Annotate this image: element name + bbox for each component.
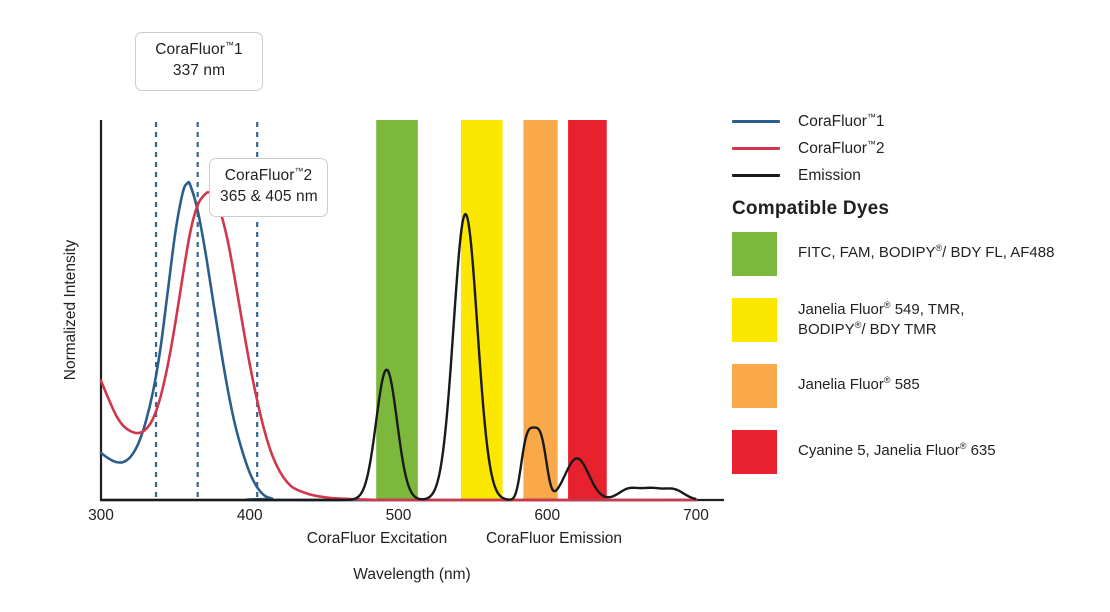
registered-symbol: ® xyxy=(960,441,967,451)
dye-label-line: Janelia Fluor® 549, TMR, xyxy=(798,300,964,320)
legend-line-swatch xyxy=(732,147,780,150)
dye-label: Cyanine 5, Janelia Fluor® 635 xyxy=(798,430,996,461)
registered-symbol: ® xyxy=(936,243,943,253)
registered-symbol: ® xyxy=(884,300,891,310)
corafluor2-callout-line1: CoraFluor™2 xyxy=(220,166,317,187)
registered-symbol: ® xyxy=(884,375,891,385)
corafluor1-callout-line2: 337 nm xyxy=(146,61,252,82)
dye-label-line: BODIPY®/ BDY TMR xyxy=(798,320,964,340)
dye-color-swatch xyxy=(732,430,777,474)
legend-item-1[interactable]: CoraFluor™2 xyxy=(728,135,1110,162)
y-axis-title: Normalized Intensity xyxy=(62,240,80,380)
corafluor2-callout-line2: 365 & 405 nm xyxy=(220,187,317,208)
excitation-region-label: CoraFluor Excitation xyxy=(307,530,447,548)
dye-row-3[interactable]: Cyanine 5, Janelia Fluor® 635 xyxy=(728,430,1110,474)
dye-label-line: FITC, FAM, BODIPY®/ BDY FL, AF488 xyxy=(798,243,1054,263)
dye-color-swatch xyxy=(732,364,777,408)
trademark-symbol: ™ xyxy=(295,166,304,176)
orange-band xyxy=(523,120,557,500)
legend-line-swatch xyxy=(732,174,780,177)
yellow-band xyxy=(461,120,503,500)
dye-row-0[interactable]: FITC, FAM, BODIPY®/ BDY FL, AF488 xyxy=(728,232,1110,276)
dye-row-2[interactable]: Janelia Fluor® 585 xyxy=(728,364,1110,408)
x-tick-400: 400 xyxy=(237,507,263,525)
x-tick-300: 300 xyxy=(88,507,114,525)
corafluor1-callout-line1: CoraFluor™1 xyxy=(146,40,252,61)
corafluor1-callout: CoraFluor™1 337 nm xyxy=(135,32,263,91)
legend-item-0[interactable]: CoraFluor™1 xyxy=(728,108,1110,135)
dye-label: Janelia Fluor® 585 xyxy=(798,364,920,395)
trademark-symbol: ™ xyxy=(225,40,234,50)
trademark-symbol: ™ xyxy=(867,138,876,148)
x-tick-700: 700 xyxy=(683,507,709,525)
dye-label-line: Janelia Fluor® 585 xyxy=(798,375,920,395)
x-tick-600: 600 xyxy=(534,507,560,525)
trademark-symbol: ™ xyxy=(867,111,876,121)
dye-row-1[interactable]: Janelia Fluor® 549, TMR,BODIPY®/ BDY TMR xyxy=(728,298,1110,342)
dye-color-swatch xyxy=(732,232,777,276)
corafluor2-callout: CoraFluor™2 365 & 405 nm xyxy=(209,158,328,217)
x-axis-title: Wavelength (nm) xyxy=(353,566,470,584)
legend-item-label: CoraFluor™2 xyxy=(798,140,885,158)
x-tick-500: 500 xyxy=(386,507,412,525)
dye-color-swatch xyxy=(732,298,777,342)
red-band xyxy=(568,120,607,500)
legend-item-label: CoraFluor™1 xyxy=(798,113,885,131)
dye-label: Janelia Fluor® 549, TMR,BODIPY®/ BDY TMR xyxy=(798,298,964,341)
dye-label-line: Cyanine 5, Janelia Fluor® 635 xyxy=(798,441,996,461)
dye-label: FITC, FAM, BODIPY®/ BDY FL, AF488 xyxy=(798,232,1054,263)
series-legend: CoraFluor™1CoraFluor™2Emission xyxy=(728,108,1110,189)
registered-symbol: ® xyxy=(855,320,862,330)
compatible-dyes-list: FITC, FAM, BODIPY®/ BDY FL, AF488Janelia… xyxy=(728,232,1110,496)
legend-line-swatch xyxy=(732,120,780,123)
right-panel: CoraFluor™1CoraFluor™2Emission Compatibl… xyxy=(728,0,1110,612)
chart-page: CoraFluor™1 337 nm CoraFluor™2 365 & 405… xyxy=(0,0,1110,612)
legend-item-2[interactable]: Emission xyxy=(728,162,1110,189)
compatible-dyes-title: Compatible Dyes xyxy=(732,198,889,220)
emission-region-label: CoraFluor Emission xyxy=(486,530,622,548)
green-band xyxy=(376,120,418,500)
legend-item-label: Emission xyxy=(798,167,861,185)
